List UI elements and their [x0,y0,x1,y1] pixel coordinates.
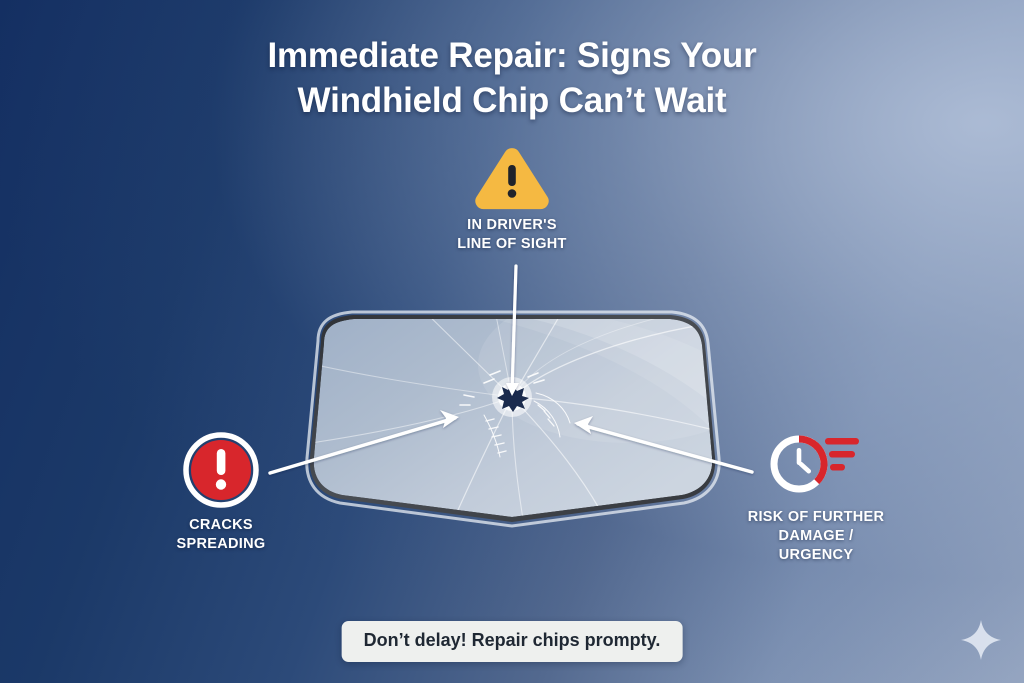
callout-line-of-sight[interactable]: IN DRIVER'S LINE OF SIGHT [432,148,592,254]
windshield-glass [298,305,726,537]
callout-cracks-spreading[interactable]: CRACKS SPREADING [142,432,300,554]
call-to-action-banner[interactable]: Don’t delay! Repair chips prompty. [342,621,683,662]
speeding-clock-icon [720,428,912,494]
page-title-line-1: Immediate Repair: Signs Your [80,34,944,79]
cracked-windshield-illustration [298,305,726,537]
infographic-canvas: Immediate Repair: Signs Your Windhield C… [0,0,1024,683]
callout-cracks-label: CRACKS SPREADING [142,516,300,554]
speed-line-2 [829,451,855,458]
page-title: Immediate Repair: Signs Your Windhield C… [0,34,1024,124]
callout-line-of-sight-label: IN DRIVER'S LINE OF SIGHT [432,216,592,254]
callout-urgency[interactable]: RISK OF FURTHER DAMAGE / URGENCY [720,428,912,565]
speed-line-1 [825,438,859,445]
speed-line-3 [830,464,845,471]
alert-circle-icon [142,432,300,508]
callout-urgency-label: RISK OF FURTHER DAMAGE / URGENCY [720,508,912,565]
warning-triangle-icon [432,148,592,210]
sparkle-icon [960,619,1002,661]
call-to-action-text: Don’t delay! Repair chips prompty. [364,630,661,650]
page-title-line-2: Windhield Chip Can’t Wait [80,79,944,124]
